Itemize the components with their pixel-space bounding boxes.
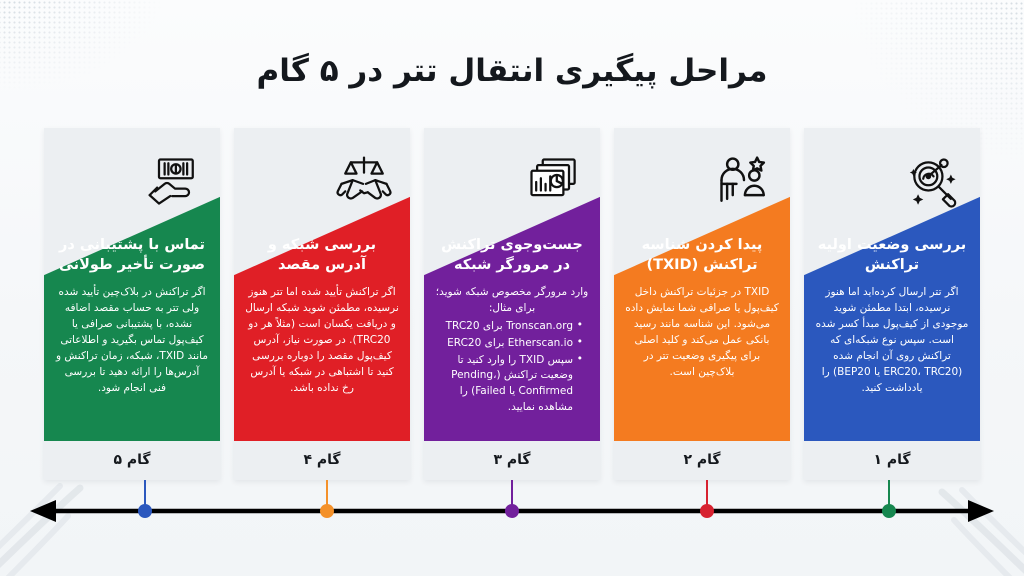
- list-item: Tronscan.org برای TRC20: [435, 319, 583, 335]
- timeline-dot-1: [138, 504, 152, 518]
- step-card-3[interactable]: جست‌وجوی تراکنش در مرورگر شبکه وارد مرور…: [424, 128, 600, 480]
- step-card-5-title: تماس با پشتیبانی در صورت تأخیر طولانی: [55, 236, 209, 275]
- step-card-3-label: گام ۳: [424, 441, 600, 480]
- step-card-2-body: پیدا کردن شناسه تراکنش (TXID) TXID در جز…: [614, 236, 790, 381]
- arrow-right-icon: [968, 500, 994, 522]
- step-card-4-title: بررسی شبکه و آدرس مقصد: [245, 236, 399, 275]
- list-item: Etherscan.io برای ERC20: [435, 336, 583, 352]
- step-card-4[interactable]: بررسی شبکه و آدرس مقصد اگر تراکنش تأیید …: [234, 128, 410, 480]
- timeline-dot-5: [882, 504, 896, 518]
- handshake-scales-icon: [334, 152, 394, 212]
- step-card-5[interactable]: تماس با پشتیبانی در صورت تأخیر طولانی اگ…: [44, 128, 220, 480]
- hand-money-icon: [144, 152, 204, 212]
- step-card-3-title: جست‌وجوی تراکنش در مرورگر شبکه: [435, 236, 589, 275]
- step-card-2-title: پیدا کردن شناسه تراکنش (TXID): [625, 236, 779, 275]
- step-card-2-text: TXID در جزئیات تراکنش داخل کیف‌پول یا صر…: [625, 285, 779, 381]
- step-card-2-label: گام ۲: [614, 441, 790, 480]
- step-card-1-title: بررسی وضعیت اولیه تراکنش: [815, 236, 969, 275]
- timeline-dot-3: [505, 504, 519, 518]
- person-star-icon: [714, 152, 774, 212]
- steps-container: بررسی وضعیت اولیه تراکنش اگر تتر ارسال ک…: [44, 128, 980, 480]
- step-card-1[interactable]: بررسی وضعیت اولیه تراکنش اگر تتر ارسال ک…: [804, 128, 980, 480]
- documents-chart-icon: [524, 152, 584, 212]
- timeline-dot-2: [320, 504, 334, 518]
- step-card-4-label: گام ۴: [234, 441, 410, 480]
- step-card-5-text: اگر تراکنش در بلاک‌چین تأیید شده ولی تتر…: [55, 285, 209, 397]
- step-card-5-body: تماس با پشتیبانی در صورت تأخیر طولانی اگ…: [44, 236, 220, 397]
- step-card-5-label: گام ۵: [44, 441, 220, 480]
- step-card-3-text: وارد مرورگر مخصوص شبکه شوید؛ برای مثال:: [435, 285, 589, 317]
- arrow-left-icon: [30, 500, 56, 522]
- step-card-4-body: بررسی شبکه و آدرس مقصد اگر تراکنش تأیید …: [234, 236, 410, 397]
- timeline: [0, 480, 1024, 576]
- step-card-3-body: جست‌وجوی تراکنش در مرورگر شبکه وارد مرور…: [424, 236, 600, 417]
- magnifier-target-icon: [904, 152, 964, 212]
- list-item: سپس TXID را وارد کنید تا وضعیت تراکنش (P…: [435, 353, 583, 416]
- step-card-1-label: گام ۱: [804, 441, 980, 480]
- step-card-3-bullet-list: Tronscan.org برای TRC20 Etherscan.io برا…: [435, 319, 589, 416]
- step-card-4-text: اگر تراکنش تأیید شده اما تتر هنوز نرسیده…: [245, 285, 399, 397]
- step-card-1-body: بررسی وضعیت اولیه تراکنش اگر تتر ارسال ک…: [804, 236, 980, 397]
- timeline-dot-4: [700, 504, 714, 518]
- page-title: مراحل پیگیری انتقال تتر در ۵ گام: [0, 52, 1024, 91]
- step-card-1-text: اگر تتر ارسال کرده‌اید اما هنوز نرسیده، …: [815, 285, 969, 397]
- step-card-2[interactable]: پیدا کردن شناسه تراکنش (TXID) TXID در جز…: [614, 128, 790, 480]
